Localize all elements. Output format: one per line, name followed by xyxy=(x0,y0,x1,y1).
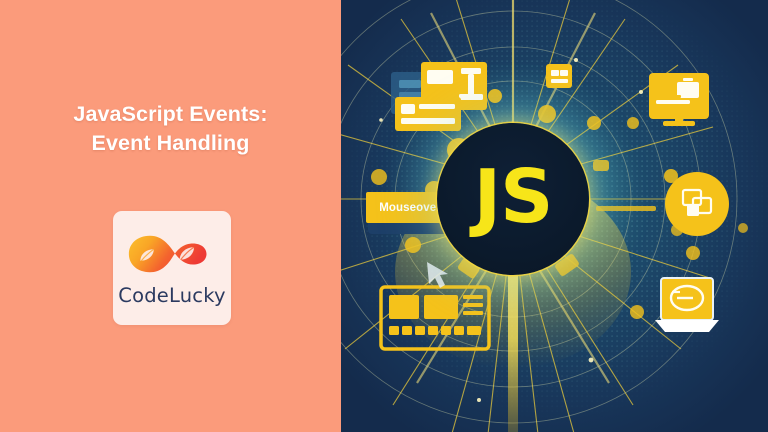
js-logo-badge: JS xyxy=(437,123,589,275)
mouseover-callout-label: Mouseover xyxy=(379,202,441,214)
callout-monitor-stand xyxy=(368,223,452,234)
title-line-2: Event Handling xyxy=(22,129,319,158)
presentation-slide: JavaScript Events: Event Handling xyxy=(0,0,768,432)
title-line-1: JavaScript Events: xyxy=(22,100,319,129)
hero-illustration: Mouseover JS xyxy=(341,0,768,432)
infinity-leaf-icon xyxy=(124,231,220,277)
brand-wordmark: CodeLucky xyxy=(118,284,225,307)
js-logo-text: JS xyxy=(474,160,553,234)
brand-logo-card: CodeLucky xyxy=(113,211,231,325)
title-panel: JavaScript Events: Event Handling xyxy=(0,0,341,432)
page-title: JavaScript Events: Event Handling xyxy=(0,100,341,158)
